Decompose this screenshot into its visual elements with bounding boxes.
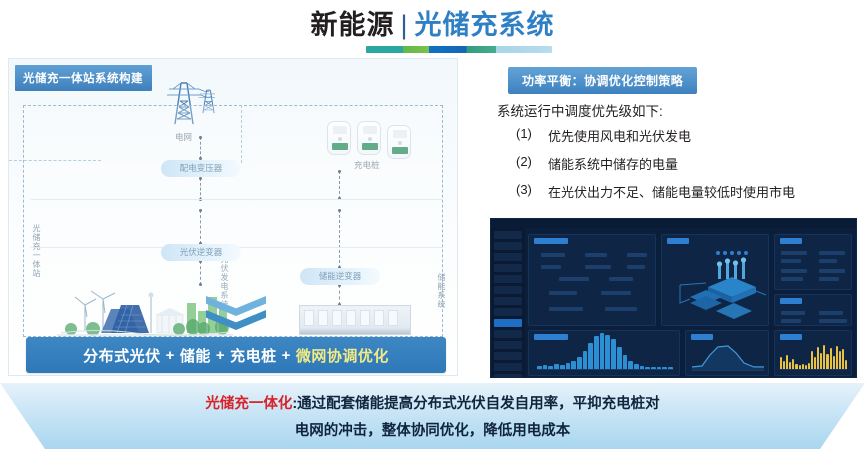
battery-module bbox=[360, 310, 370, 326]
node-pv-inverter: 光伏逆变器 bbox=[161, 244, 241, 261]
card-title-bar bbox=[780, 298, 802, 304]
connector-grid-to-transformer bbox=[200, 137, 201, 159]
card-title-bar bbox=[780, 238, 802, 244]
right-panel-tag: 功率平衡：协调优化控制策略 bbox=[508, 67, 697, 94]
bar-series bbox=[537, 329, 673, 369]
title-main: 新能源 bbox=[310, 10, 394, 40]
battery-module bbox=[318, 310, 328, 326]
sidebar-item bbox=[494, 363, 522, 371]
list-item-label: 优先使用风电和光伏发电 bbox=[548, 126, 691, 145]
priority-list: (1) 优先使用风电和光伏发电 (2) 储能系统中储存的电量 (3) 在光伏出力… bbox=[516, 126, 795, 210]
battery-module bbox=[374, 310, 384, 326]
monitoring-dashboard-screenshot bbox=[490, 218, 857, 378]
page-title: 新能源|光储充系统 bbox=[0, 8, 865, 42]
connector-transformer-down bbox=[200, 178, 201, 200]
dashboard-titlebar bbox=[491, 219, 856, 228]
list-item: (2) 储能系统中储存的电量 bbox=[516, 154, 795, 173]
banner-part-pv: 分布式光伏 bbox=[83, 345, 161, 366]
chart-axis-x bbox=[691, 370, 764, 371]
sidebar-item bbox=[494, 242, 522, 250]
connector-bus-to-storage bbox=[339, 210, 340, 268]
list-item-label: 在光伏出力不足、储能电量较低时使用市电 bbox=[548, 182, 795, 201]
dashboard-content bbox=[525, 228, 856, 377]
banner-plus-1: + bbox=[166, 347, 175, 364]
card-title-bar bbox=[691, 334, 713, 340]
isometric-network-graphic bbox=[662, 253, 770, 325]
banner-highlight: 微网协调优化 bbox=[296, 345, 389, 366]
dashboard-card-status bbox=[774, 234, 852, 290]
footer-highlight: 光储充一体化 bbox=[205, 396, 292, 412]
chart-axis-x bbox=[780, 369, 847, 370]
boundary-dash-mid bbox=[241, 105, 242, 163]
connector-charger-down bbox=[339, 171, 340, 199]
boundary-dash-left bbox=[9, 160, 101, 161]
sidebar-item bbox=[494, 297, 522, 305]
dashboard-card-bar-chart bbox=[528, 330, 680, 376]
battery-module bbox=[388, 310, 398, 326]
left-panel-tag: 光储充一体站系统构建 bbox=[15, 65, 152, 91]
footer-line-2: 电网的冲击，整体协同优化，降低用电成本 bbox=[295, 423, 571, 439]
battery-module bbox=[346, 310, 356, 326]
battery-module bbox=[304, 310, 314, 326]
banner-part-charger: 充电桩 bbox=[230, 345, 277, 366]
sidebar-item bbox=[494, 352, 522, 360]
card-title-bar bbox=[534, 238, 568, 244]
connector-storage-down bbox=[339, 285, 340, 305]
list-item: (3) 在光伏出力不足、储能电量较低时使用市电 bbox=[516, 182, 795, 201]
card-title-bar bbox=[780, 334, 802, 340]
vertical-label-storage-system: 储能系统 bbox=[436, 273, 446, 309]
node-storage-inverter: 储能逆变器 bbox=[300, 268, 380, 285]
sidebar-item bbox=[494, 231, 522, 239]
line-series bbox=[686, 341, 770, 371]
sidebar-item bbox=[494, 275, 522, 283]
slide-root: 新能源|光储充系统 光储充一体站系统构建 电网 bbox=[0, 0, 865, 449]
battery-storage-rack bbox=[299, 305, 411, 335]
dashboard-card-parameters bbox=[528, 234, 656, 326]
list-item-number: (2) bbox=[516, 154, 542, 173]
sidebar-item bbox=[494, 308, 522, 316]
sidebar-item bbox=[494, 374, 522, 378]
footer-line-1: 通过配套储能提高分布式光伏自发自用率，平抑充电桩对 bbox=[297, 396, 660, 412]
sidebar-item bbox=[494, 330, 522, 338]
battery-module bbox=[332, 310, 342, 326]
bar-series bbox=[780, 343, 847, 369]
list-item-number: (1) bbox=[516, 126, 542, 145]
priority-intro-text: 系统运行中调度优先级如下: bbox=[497, 100, 663, 120]
list-item-number: (3) bbox=[516, 182, 542, 201]
dashboard-card-line-chart bbox=[685, 330, 769, 376]
title-sub: 光储充系统 bbox=[415, 10, 555, 40]
list-item-label: 储能系统中储存的电量 bbox=[548, 154, 678, 173]
sidebar-item bbox=[494, 286, 522, 294]
dashboard-sidebar bbox=[491, 228, 525, 377]
sidebar-item bbox=[494, 341, 522, 349]
sidebar-item bbox=[494, 264, 522, 272]
sidebar-item bbox=[494, 253, 522, 261]
dashboard-card-load-chart bbox=[774, 330, 852, 376]
connector-pv-down bbox=[200, 261, 201, 285]
vertical-label-station: 光储充一体站 bbox=[31, 224, 41, 278]
node-transformer: 配电变压器 bbox=[161, 160, 241, 177]
banner-plus-3: + bbox=[282, 347, 291, 364]
dashboard-card-topology bbox=[661, 234, 769, 326]
list-item: (1) 优先使用风电和光伏发电 bbox=[516, 126, 795, 145]
chart-axis-x bbox=[537, 369, 674, 370]
dashboard-card-alarms bbox=[774, 294, 852, 326]
banner-plus-2: + bbox=[216, 347, 225, 364]
title-underline-bar bbox=[366, 46, 552, 53]
footer-text: 光储充一体化:通过配套储能提高分布式光伏自发自用率，平抑充电桩对 电网的冲击，整… bbox=[0, 391, 865, 445]
bus-line-upper bbox=[31, 199, 443, 200]
sidebar-item-active bbox=[494, 319, 522, 327]
card-title-bar bbox=[667, 238, 689, 244]
banner-part-storage: 储能 bbox=[180, 345, 211, 366]
title-separator: | bbox=[400, 10, 408, 40]
summary-banner: 分布式光伏 + 储能 + 充电桩 + 微网协调优化 bbox=[26, 337, 446, 373]
connector-bus-to-pv bbox=[200, 210, 201, 244]
